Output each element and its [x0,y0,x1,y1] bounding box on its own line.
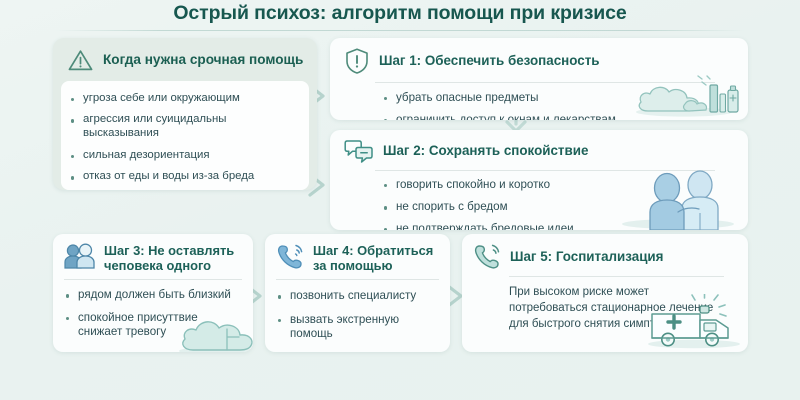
step-2-list: говорить спокойно и коротко не спорить с… [382,178,736,230]
step-4-card: Шаг 4: Обратиться за помощью позвонить с… [265,234,450,352]
page-title: Острый психоз: алгоритм помощи при кризи… [0,2,800,25]
list-item: сильная дезориентация [69,149,299,163]
step-3-header: Шаг 3: Не оставлять чеповека одного [64,243,243,273]
list-item: не подтверждать бредовые идеи [382,222,736,230]
step-4-list: позвонить специалисту вызвать экстренную… [276,289,440,340]
list-item: ограничить доступ к окнам и лекарствам [382,113,736,120]
list-item: отказ от еды и воды из-за бреда [69,170,299,184]
list-item: не спорить с бредом [382,200,736,214]
list-item: угроза себе или окружающим [69,92,299,106]
step-5-paragraph: При высоком риске может потребоваться ст… [509,285,714,333]
step-4-divider [276,279,439,280]
step-3-list: рядом должен быть близкий спокойное прис… [64,288,243,338]
step-1-card: Шаг 1: Обеспечить безопасность убрать оп… [330,38,748,120]
danger-card-body: угроза себе или окружающим агрессия или … [61,81,309,190]
list-item: спокойное присуттвие снижает тревогу [64,311,243,339]
step-5-title: Шаг 5: Госпитализация [510,249,663,265]
step-5-card: Шаг 5: Госпитализация При высоком риске … [462,234,748,352]
list-item: рядом должен быть близкий [64,288,243,302]
step-1-divider [375,82,715,83]
step-2-card: Шаг 2: Сохранять спокойствие говорить сп… [330,130,748,230]
shield-exclamation-icon [344,47,370,75]
step-4-header: Шаг 4: Обратиться за помощью [276,243,440,273]
step-3-divider [64,279,242,280]
step-1-title: Шаг 1: Обеспечить безопасность [379,53,599,69]
step-3-title: Шаг 3: Не оставлять чеповека одного [104,243,243,273]
danger-signs-card: Когда нужна срочная помощь угроза себе и… [53,38,317,190]
step-5-divider [509,276,724,277]
two-persons-icon [64,243,97,269]
danger-card-header: Когда нужна срочная помощь [61,46,309,81]
title-divider [55,30,745,31]
danger-list: угроза себе или окружающим агрессия или … [69,92,299,190]
step-2-divider [375,170,715,171]
step-5-header: Шаг 5: Госпитализация [473,243,736,270]
list-item: говорить спокойно и коротко [382,178,736,192]
step-1-list: убрать опасные предметы ограничить досту… [382,91,736,120]
list-item: вызвать экстренную помощь [276,313,440,341]
danger-card-title: Когда нужна срочная помощь [103,52,303,68]
list-item: позвонить специалисту [276,289,440,303]
step-4-title: Шаг 4: Обратиться за помощью [313,243,440,273]
step-2-title: Шаг 2: Сохранять спокойствие [383,143,588,159]
list-item: убрать опасные предметы [382,91,736,105]
warning-triangle-icon [67,48,94,73]
step-2-header: Шаг 2: Сохранять спокойствие [342,138,736,164]
step-1-header: Шаг 1: Обеспечить безопасность [342,47,736,75]
phone-ringing-icon [276,243,306,270]
list-item: агрессия или суицидальны высказывания [69,113,299,141]
step-3-card: Шаг 3: Не оставлять чеповека одного рядо… [53,234,253,352]
speech-bubbles-icon [344,138,374,164]
phone-ringing-icon [473,243,502,270]
